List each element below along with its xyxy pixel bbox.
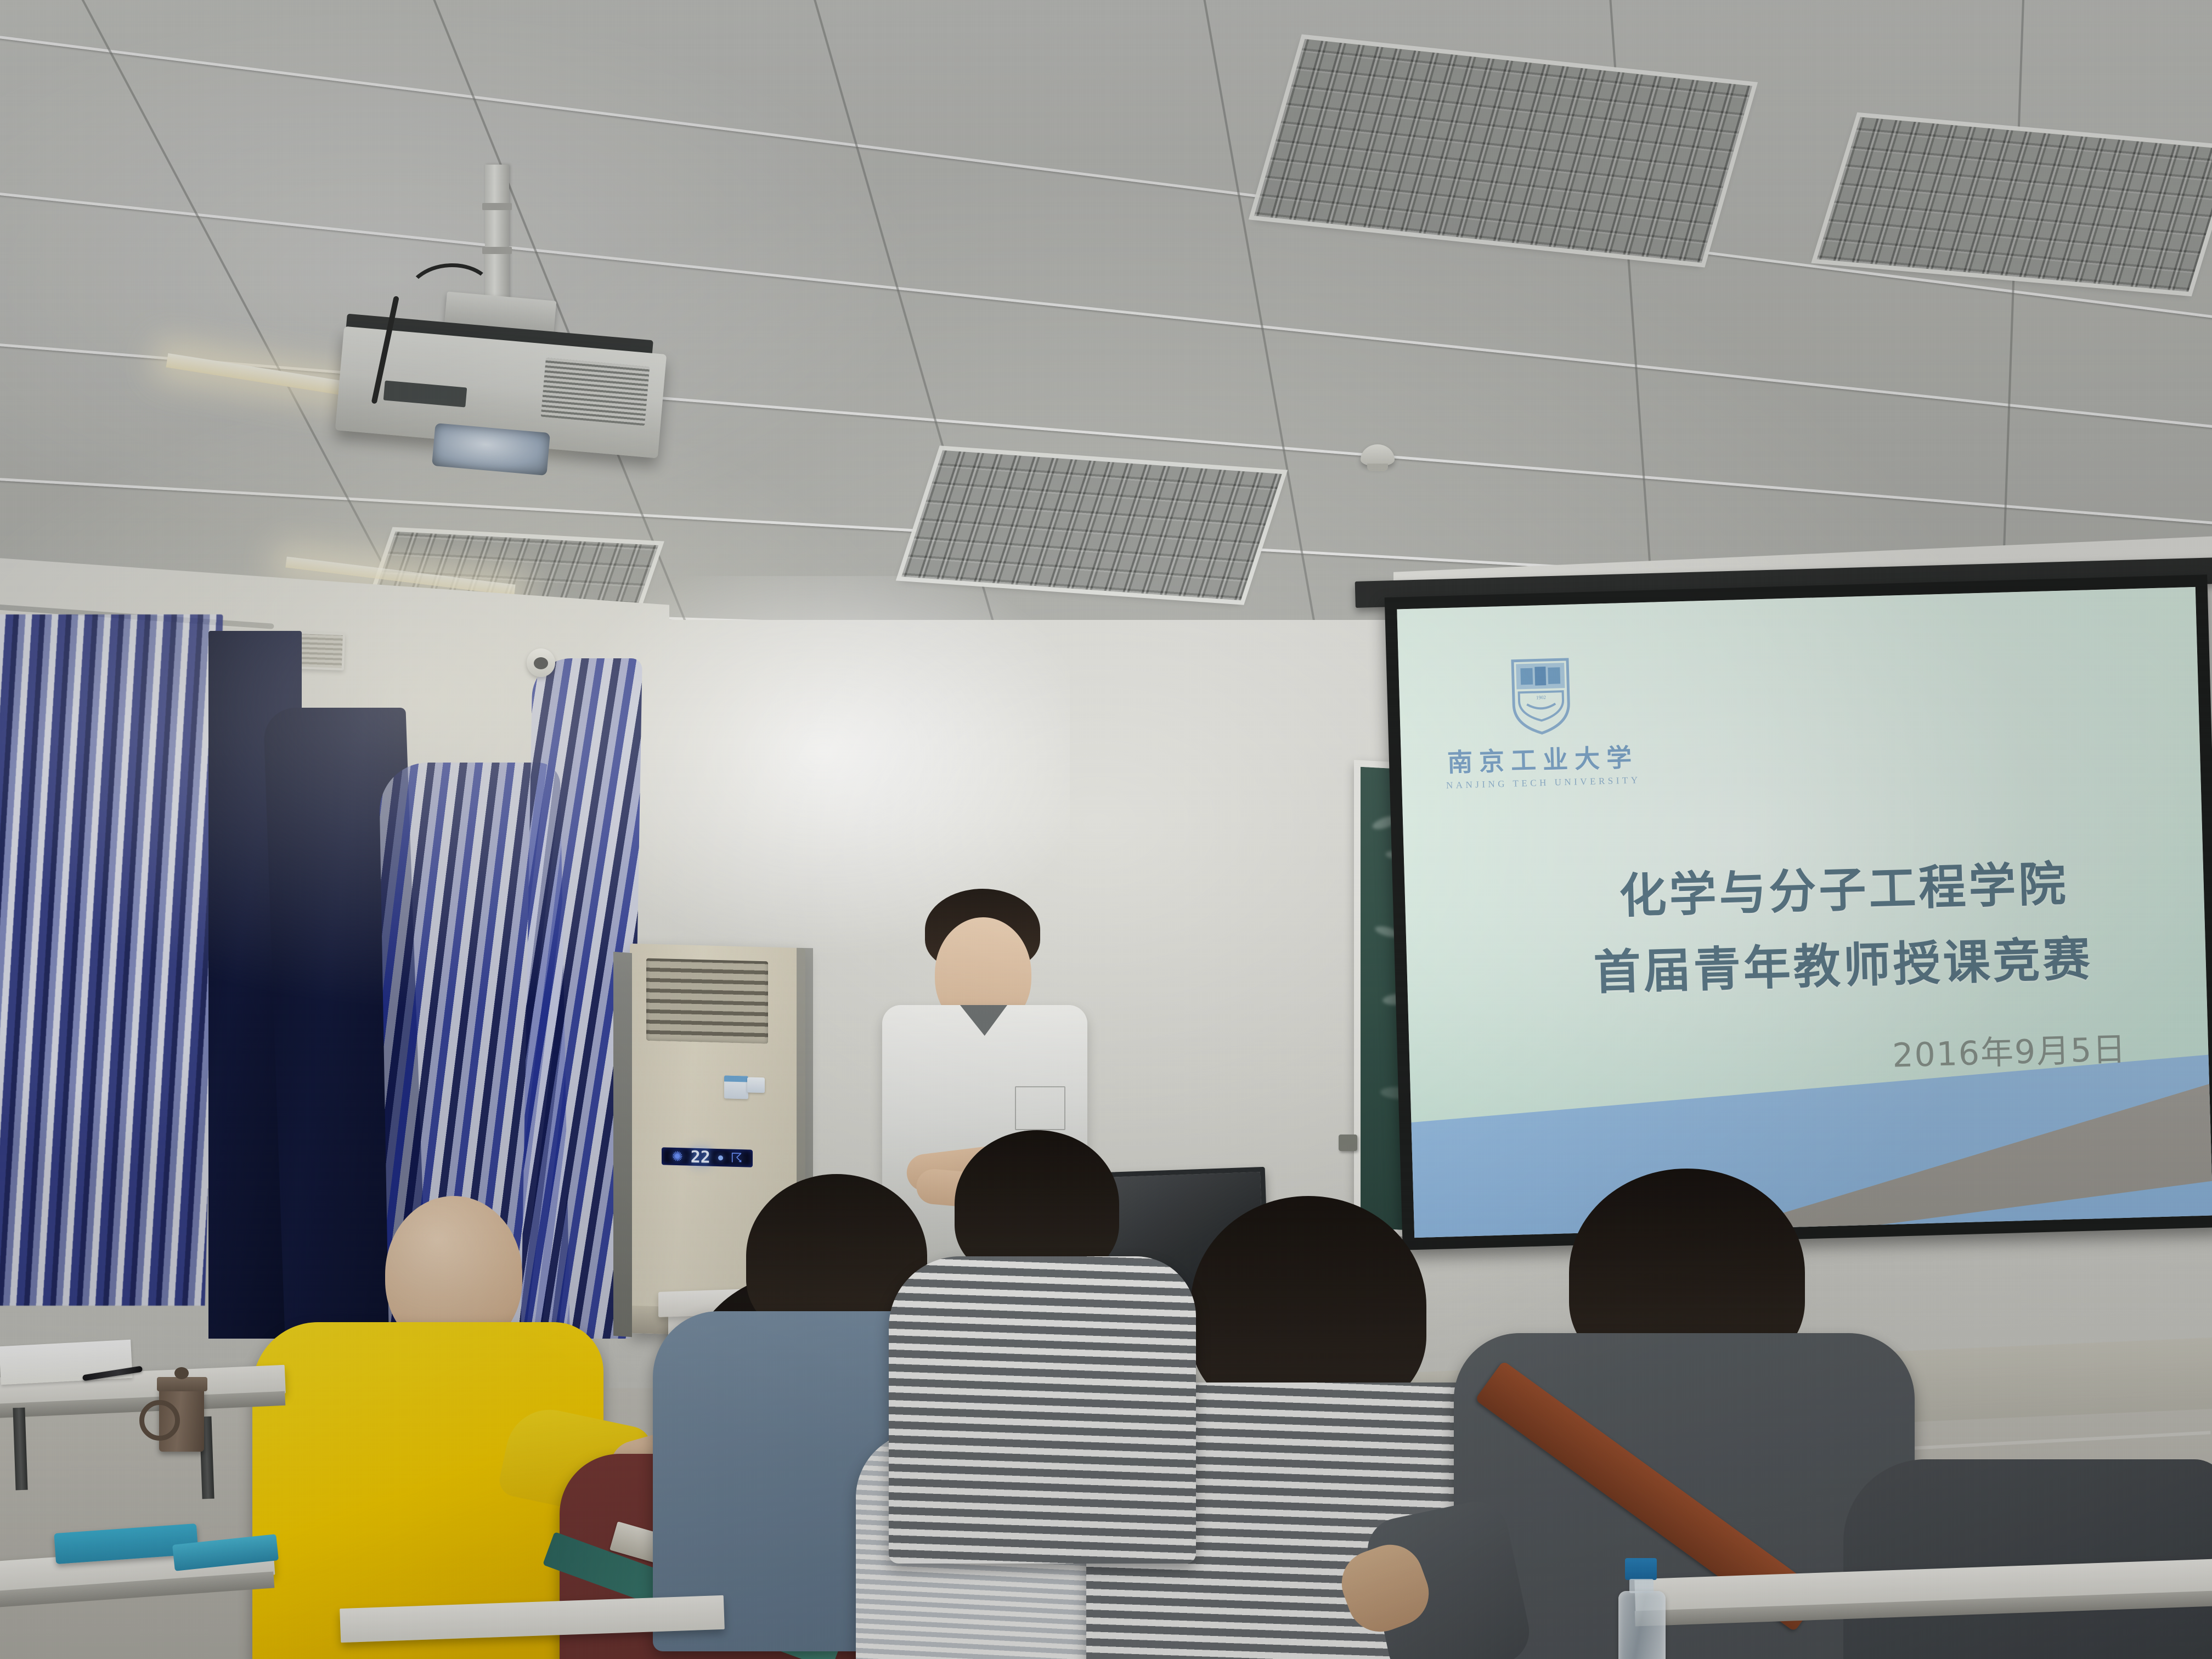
bottle-cap [1625, 1558, 1657, 1580]
audience-partial-torso [1843, 1459, 2212, 1659]
air-conditioner-side [613, 952, 632, 1337]
projector-vent [541, 358, 650, 426]
air-conditioner-label [724, 1075, 748, 1099]
audience-striped-torso [889, 1256, 1196, 1564]
window-curtain-sheer [0, 614, 223, 1306]
projector-cable [404, 261, 498, 345]
university-crest-icon: 1902 [1509, 657, 1573, 736]
air-conditioner-display: ✺ 22 ☈ [662, 1147, 753, 1167]
presenter-shirt-pocket [1015, 1086, 1065, 1130]
air-conditioner-fan-icon: ☈ [731, 1150, 743, 1166]
mug-knob [174, 1367, 189, 1379]
svg-text:1902: 1902 [1536, 695, 1546, 700]
projection-screen: 1902 南京工业大学 NANJING TECH UNIVERSITY 化学与分… [1385, 574, 2212, 1250]
paper-sheets [0, 1340, 133, 1385]
projection-screen-surface: 1902 南京工业大学 NANJING TECH UNIVERSITY 化学与分… [1397, 587, 2212, 1238]
air-conditioner-label [747, 1077, 765, 1093]
university-logo: 1902 南京工业大学 NANJING TECH UNIVERSITY [1436, 655, 1647, 792]
classroom-photo: 1902 南京工业大学 NANJING TECH UNIVERSITY 化学与分… [0, 0, 2212, 1659]
slide-date: 2016年9月5日 [1892, 1023, 2127, 1077]
bottle-body [1618, 1591, 1666, 1659]
mug-handle [139, 1400, 180, 1441]
slide: 1902 南京工业大学 NANJING TECH UNIVERSITY 化学与分… [1397, 587, 2212, 1238]
university-name-cn: 南京工业大学 [1438, 737, 1647, 780]
air-conditioner-mode-icon: ✺ [672, 1148, 683, 1165]
air-conditioner-grille [646, 958, 768, 1044]
chalkboard-hook [1339, 1135, 1357, 1151]
air-conditioner-temp: 22 [691, 1147, 710, 1167]
security-camera-icon [527, 648, 555, 677]
